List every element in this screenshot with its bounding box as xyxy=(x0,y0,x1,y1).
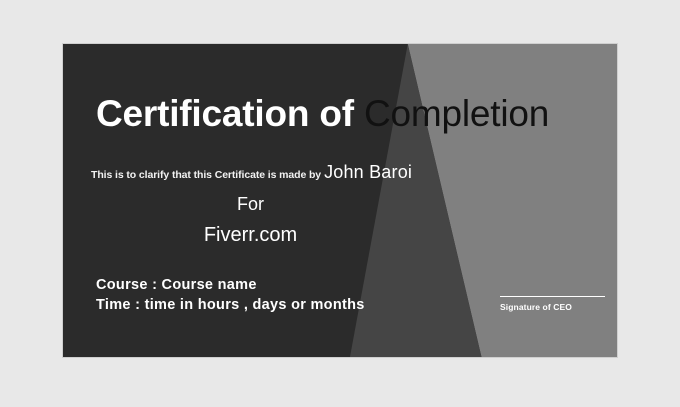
for-label: For xyxy=(63,194,438,215)
statement-row: This is to clarify that this Certificate… xyxy=(91,162,412,183)
details-block: Course : Course name Time : time in hour… xyxy=(96,275,365,315)
course-line: Course : Course name xyxy=(96,275,365,295)
signature-block: Signature of CEO xyxy=(500,296,608,312)
title-primary-text: Certification of xyxy=(96,93,354,134)
certificate-title: Certification of Completion xyxy=(96,93,549,135)
statement-text: This is to clarify that this Certificate… xyxy=(91,169,321,181)
signature-label: Signature of CEO xyxy=(500,302,608,312)
certificate-card: Certification of Completion This is to c… xyxy=(62,43,618,358)
platform-name: Fiverr.com xyxy=(63,224,438,247)
recipient-name: John Baroi xyxy=(324,162,412,183)
time-line: Time : time in hours , days or months xyxy=(96,295,365,315)
signature-line xyxy=(500,296,605,297)
title-secondary-text: Completion xyxy=(354,93,549,134)
